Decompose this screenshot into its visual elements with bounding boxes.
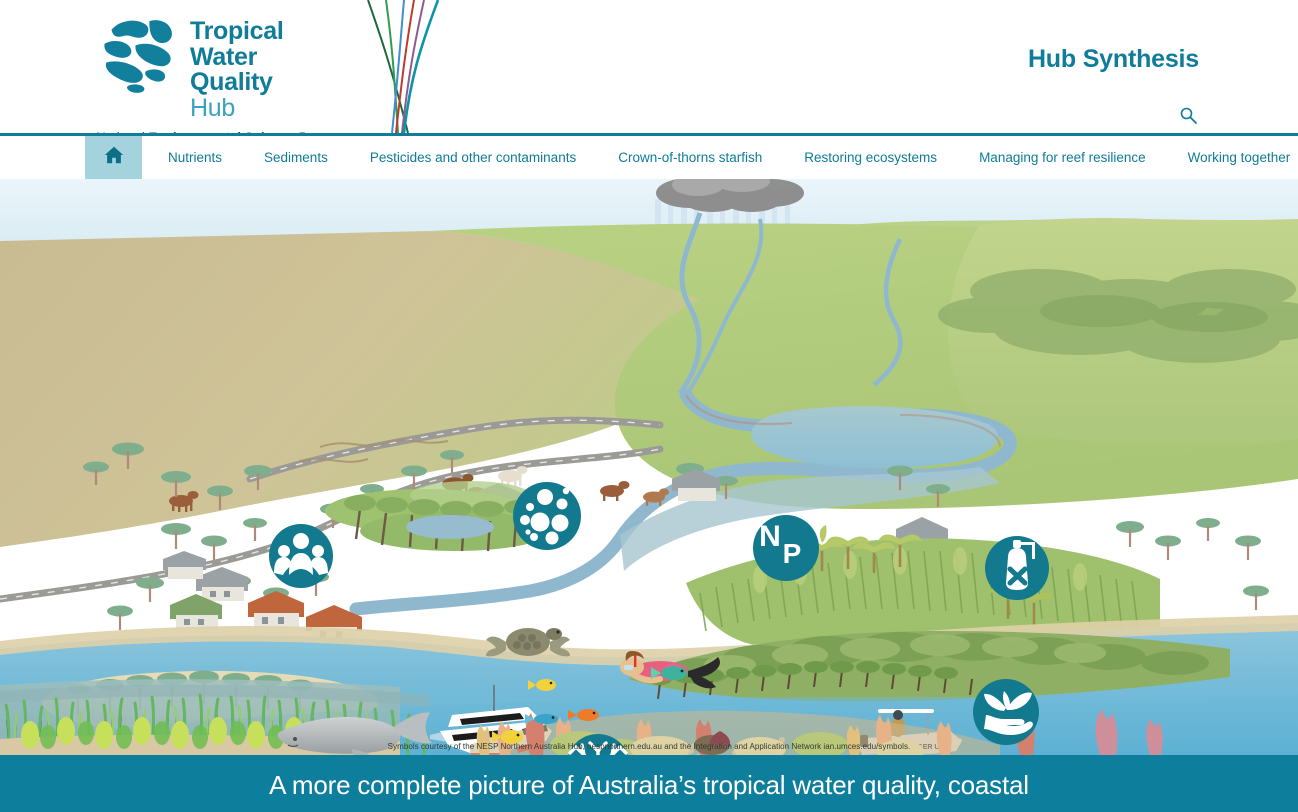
nav-item-nutrients[interactable]: Nutrients [155, 136, 235, 179]
search-icon[interactable] [1178, 105, 1198, 125]
catchment-to-reef-scene: SEA RANGER UNIT [0, 179, 1298, 755]
logo-line-2: Water [190, 45, 283, 71]
nutrients-badge[interactable]: N P [753, 515, 819, 581]
nav-item-list: Nutrients Sediments Pesticides and other… [142, 136, 1298, 179]
pesticides-badge[interactable] [985, 536, 1049, 600]
logo-line-3: Quality [190, 70, 283, 96]
restoring-ecosystems-badge[interactable] [973, 679, 1039, 745]
nutrient-p-label: P [783, 538, 802, 569]
nav-item-working-together[interactable]: Working together [1175, 136, 1298, 179]
site-logo[interactable]: Tropical Water Quality Hub National Envi… [96, 14, 368, 133]
hero-caption-bar: A more complete picture of Australia’s t… [0, 755, 1298, 812]
nav-item-sediments[interactable]: Sediments [251, 136, 341, 179]
ribbon-lines-decoration [352, 0, 442, 133]
australia-map-icon [96, 14, 182, 94]
site-header: Tropical Water Quality Hub National Envi… [0, 0, 1298, 133]
nav-item-restoring-ecosystems[interactable]: Restoring ecosystems [791, 136, 950, 179]
working-together-badge[interactable] [269, 524, 333, 588]
logo-line-1: Tropical [190, 19, 283, 45]
logo-line-4: Hub [190, 96, 283, 122]
nav-item-pesticides[interactable]: Pesticides and other contaminants [357, 136, 589, 179]
nav-item-crown-of-thorns[interactable]: Crown-of-thorns starfish [605, 136, 775, 179]
hero-caption-text: A more complete picture of Australia’s t… [269, 770, 1029, 801]
sea-turtle [486, 628, 570, 656]
nav-home-button[interactable] [85, 136, 142, 179]
hero-illustration: SEA RANGER UNIT [0, 179, 1298, 755]
tagline-bold: Environmental Science [148, 130, 294, 133]
nutrient-n-label: N [759, 520, 781, 553]
logo-tagline: National Environmental Science Programme [96, 130, 368, 133]
home-icon [103, 144, 125, 171]
tagline-prefix: National [96, 130, 148, 133]
main-navigation: Nutrients Sediments Pesticides and other… [0, 136, 1298, 179]
page-title: Hub Synthesis [1028, 45, 1199, 74]
sediments-badge[interactable] [513, 482, 581, 550]
symbols-credit: Symbols courtesy of the NESP Northern Au… [0, 742, 1298, 751]
nav-item-reef-resilience[interactable]: Managing for reef resilience [966, 136, 1159, 179]
